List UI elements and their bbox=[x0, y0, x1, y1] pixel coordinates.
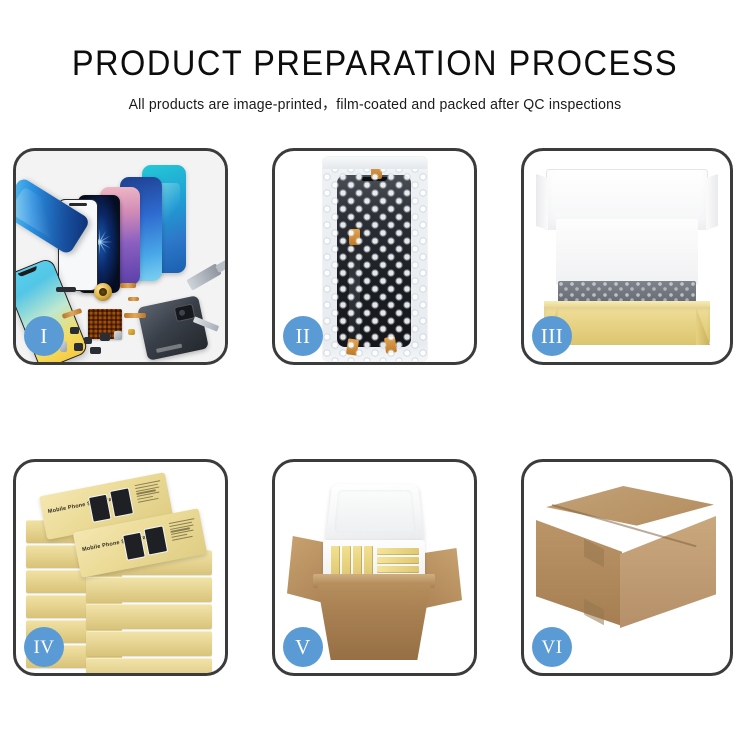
bag-seal bbox=[323, 157, 427, 169]
yellow-box-6 bbox=[377, 557, 419, 564]
process-step-3[interactable]: III bbox=[521, 148, 733, 365]
chip-part-2 bbox=[70, 327, 79, 334]
chip-part-6 bbox=[90, 347, 101, 354]
foam-sheet bbox=[556, 219, 698, 285]
flex-cable-2 bbox=[128, 297, 139, 301]
box-art-screen-4 bbox=[143, 525, 168, 555]
open-kraft-box bbox=[534, 169, 720, 336]
metal-bracket-1 bbox=[114, 331, 122, 340]
carton-body bbox=[317, 582, 431, 660]
step-1-badge: I bbox=[24, 316, 64, 356]
bubble-texture bbox=[323, 157, 427, 361]
process-step-6[interactable]: VI bbox=[521, 459, 733, 676]
chip-part-4 bbox=[100, 333, 110, 341]
step-4-badge: IV bbox=[24, 627, 64, 667]
yellow-box-5 bbox=[377, 548, 419, 555]
carton-right-face bbox=[620, 516, 716, 628]
chip-part-1 bbox=[56, 287, 76, 292]
process-step-2[interactable]: II bbox=[272, 148, 477, 365]
step-3-badge: III bbox=[532, 316, 572, 356]
chip-part-5 bbox=[74, 343, 83, 351]
flex-cable-1 bbox=[120, 283, 136, 288]
process-step-grid: I II bbox=[0, 0, 750, 750]
speaker-component bbox=[94, 283, 112, 301]
process-step-1[interactable]: I bbox=[13, 148, 228, 365]
chip-part-3 bbox=[84, 337, 92, 344]
gold-contact bbox=[128, 329, 135, 335]
bubble-wrap-bag bbox=[323, 157, 427, 361]
box-art-screen-2 bbox=[109, 487, 134, 517]
box-spec-lines-lower bbox=[169, 518, 198, 541]
yellow-box-7 bbox=[377, 566, 419, 573]
foam-box-lid bbox=[325, 484, 424, 542]
shell-label bbox=[156, 344, 182, 353]
process-step-4[interactable]: Mobile Phone Spare Parts Mobile Phone Sp… bbox=[13, 459, 228, 676]
flex-cable-4 bbox=[124, 313, 146, 318]
camera-module bbox=[174, 303, 196, 322]
sealed-carton bbox=[536, 486, 718, 651]
step-5-badge: V bbox=[283, 627, 323, 667]
product-preparation-infographic: PRODUCT PREPARATION PROCESS All products… bbox=[0, 0, 750, 750]
step-6-badge: VI bbox=[532, 627, 572, 667]
box-spec-lines-upper bbox=[135, 480, 164, 503]
step-2-badge: II bbox=[283, 316, 323, 356]
carton-left-face bbox=[536, 520, 622, 626]
process-step-5[interactable]: V bbox=[272, 459, 477, 676]
